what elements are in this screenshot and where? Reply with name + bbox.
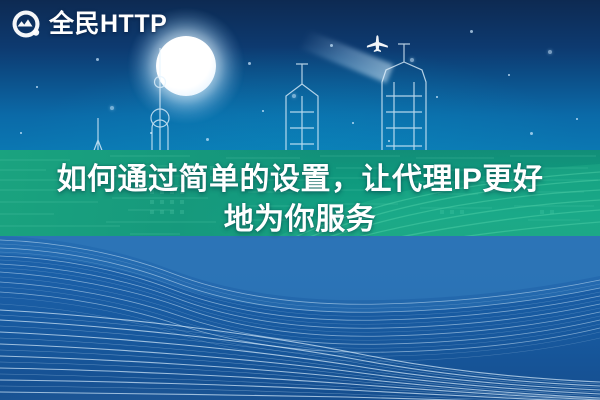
globe-http-logo-icon xyxy=(10,8,42,40)
wave-highlight-overlay xyxy=(0,236,600,400)
banner-image: 全民HTTP 如何通过简单的设置，让代理IP更好 地为你服务 xyxy=(0,0,600,400)
headline: 如何通过简单的设置，让代理IP更好 地为你服务 xyxy=(18,160,582,240)
brand-logo[interactable]: 全民HTTP xyxy=(10,8,167,40)
headline-line-1: 如何通过简单的设置，让代理IP更好 xyxy=(18,160,582,200)
headline-line-2: 地为你服务 xyxy=(18,200,582,240)
brand-name: 全民HTTP xyxy=(49,8,167,40)
